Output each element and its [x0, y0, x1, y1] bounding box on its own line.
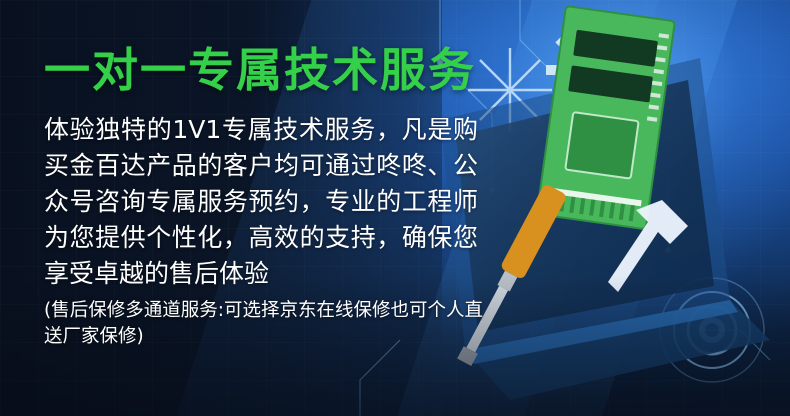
service-banner: 一对一专属技术服务 体验独特的1V1专属技术服务，凡是购买金百达产品的客户均可通… — [0, 0, 790, 416]
page-title: 一对一专属技术服务 — [44, 46, 484, 96]
warranty-note: (售后保修多通道服务:可选择京东在线保修也可个人直送厂家保修) — [44, 298, 484, 351]
text-block: 一对一专属技术服务 体验独特的1V1专属技术服务，凡是购买金百达产品的客户均可通… — [44, 46, 484, 350]
body-paragraph: 体验独特的1V1专属技术服务，凡是购买金百达产品的客户均可通过咚咚、公众号咨询专… — [44, 112, 478, 292]
